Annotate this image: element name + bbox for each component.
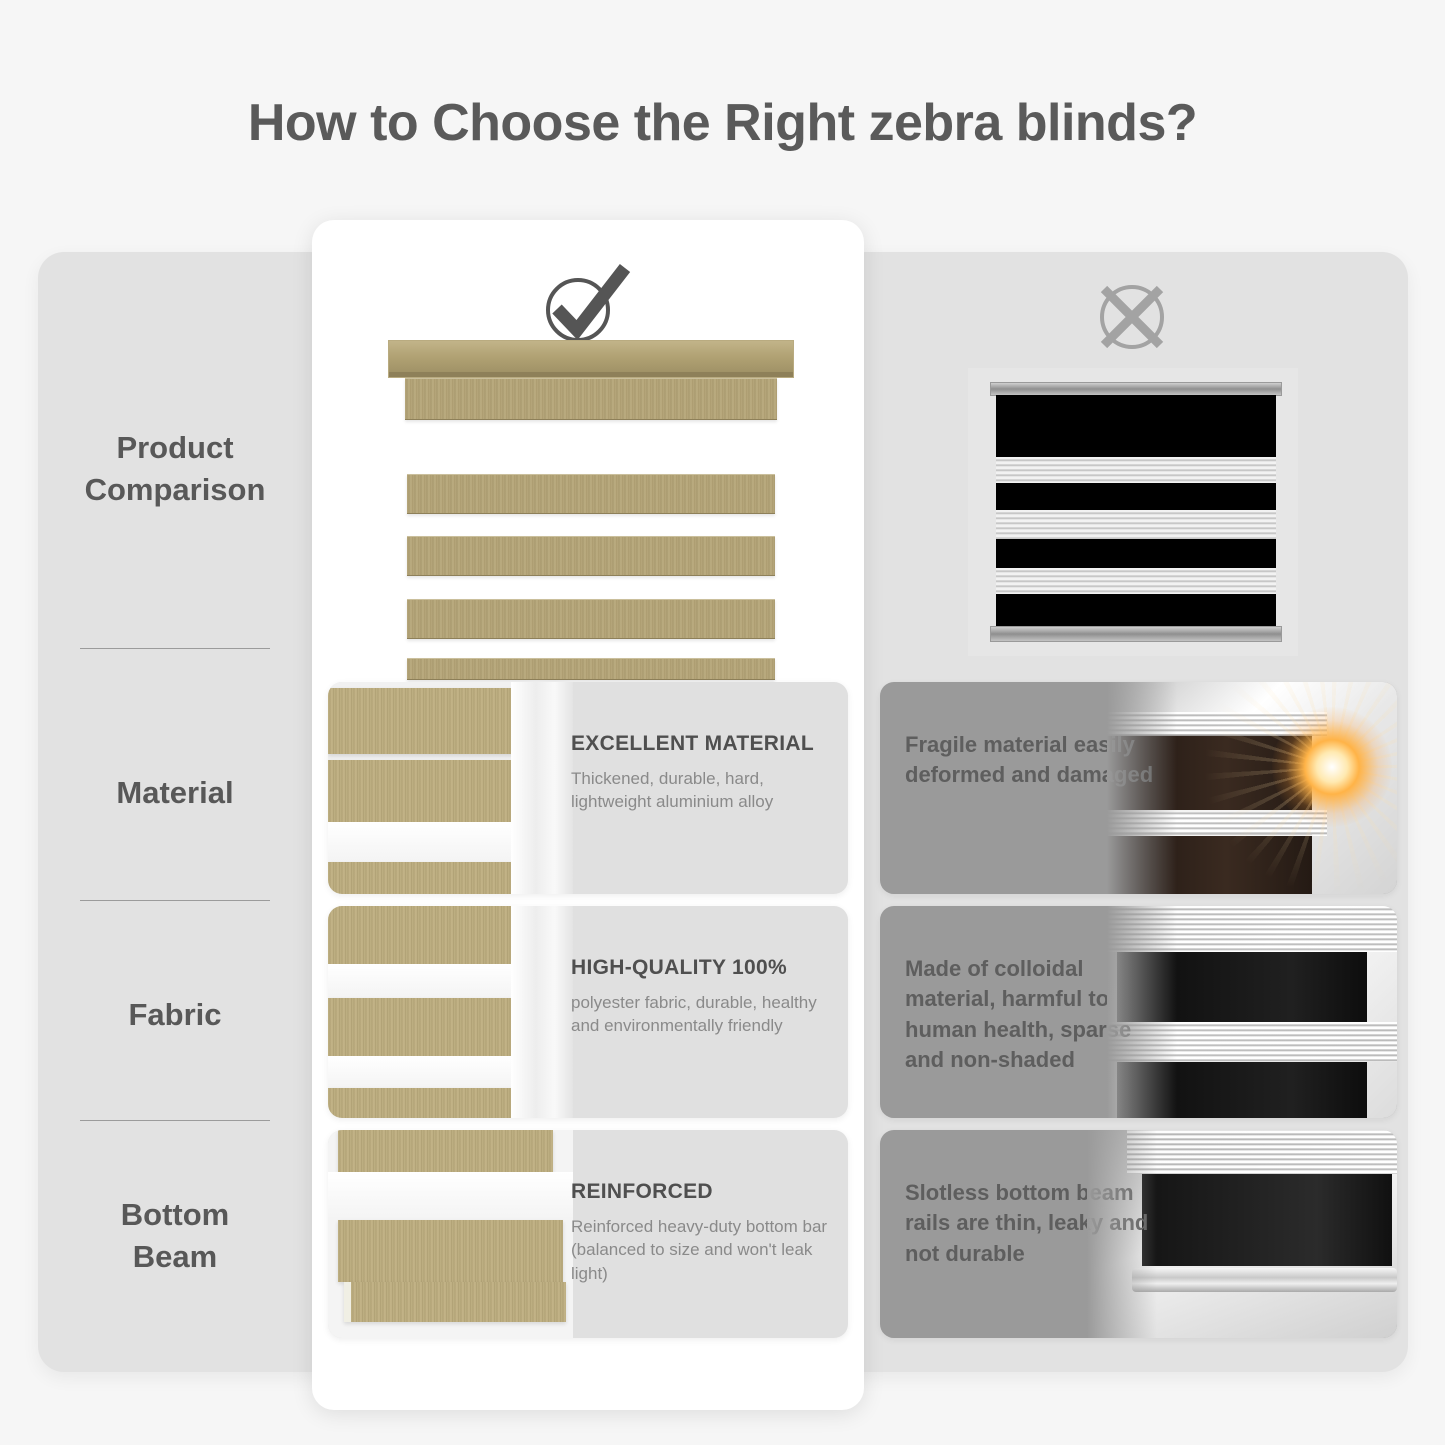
good-feature-text-fabric: HIGH-QUALITY 100% polyester fabric, dura… — [571, 956, 833, 1038]
feature-description: Thickened, durable, hard, lightweight al… — [571, 767, 833, 814]
row-divider — [80, 1120, 270, 1121]
good-feature-card-bottom-beam: REINFORCED Reinforced heavy-duty bottom … — [328, 1130, 848, 1338]
page-title: How to Choose the Right zebra blinds? — [0, 93, 1445, 153]
check-circle-icon — [535, 252, 635, 352]
good-feature-text-bottom-beam: REINFORCED Reinforced heavy-duty bottom … — [571, 1180, 833, 1285]
good-feature-text-material: EXCELLENT MATERIAL Thickened, durable, h… — [571, 732, 833, 814]
bad-feature-image-material — [1107, 682, 1397, 894]
blind-fabric — [996, 395, 1276, 627]
row-label-fabric: Fabric — [38, 994, 312, 1036]
bad-feature-image-fabric — [1107, 906, 1397, 1118]
blind-bottom-rail — [990, 626, 1282, 642]
window-frame — [511, 682, 573, 894]
blind-mesh-band — [996, 568, 1276, 594]
hero-image-tan-zebra-blind — [385, 340, 797, 670]
blind-band — [407, 536, 775, 576]
window-frame — [511, 906, 573, 1118]
blind-mesh-band — [996, 510, 1276, 539]
row-label-product-comparison: Product Comparison — [38, 427, 312, 511]
feature-description: polyester fabric, durable, healthy and e… — [571, 991, 833, 1038]
blind-band — [407, 474, 775, 514]
bad-feature-image-bottom-beam — [1087, 1130, 1397, 1338]
good-feature-image-fabric — [328, 906, 573, 1118]
row-divider — [80, 648, 270, 649]
feature-title: REINFORCED — [571, 1180, 833, 1204]
blind-band — [407, 599, 775, 639]
good-feature-image-material — [328, 682, 573, 894]
feature-title: EXCELLENT MATERIAL — [571, 732, 833, 756]
blind-band — [405, 378, 777, 420]
feature-title: HIGH-QUALITY 100% — [571, 956, 833, 980]
x-circle-icon — [1082, 267, 1182, 367]
good-feature-card-material: EXCELLENT MATERIAL Thickened, durable, h… — [328, 682, 848, 894]
bad-feature-card-material: Fragile material easily deformed and dam… — [880, 682, 1397, 894]
hero-image-black-zebra-blind — [968, 368, 1298, 656]
row-label-material: Material — [38, 772, 312, 814]
row-divider — [80, 900, 270, 901]
feature-description: Reinforced heavy-duty bottom bar (balanc… — [571, 1215, 833, 1285]
bad-feature-card-bottom-beam: Slotless bottom beam rails are thin, lea… — [880, 1130, 1397, 1338]
blind-bottom-bar — [407, 658, 775, 680]
bad-feature-card-fabric: Made of colloidal material, harmful to h… — [880, 906, 1397, 1118]
good-feature-card-fabric: HIGH-QUALITY 100% polyester fabric, dura… — [328, 906, 848, 1118]
row-label-column: Product Comparison Material Fabric Botto… — [38, 252, 312, 1372]
good-feature-image-bottom-beam — [328, 1130, 573, 1338]
row-label-bottom-beam: Bottom Beam — [38, 1194, 312, 1278]
blind-mesh-band — [996, 457, 1276, 483]
blind-headrail — [990, 382, 1282, 396]
blind-headrail — [388, 340, 794, 378]
